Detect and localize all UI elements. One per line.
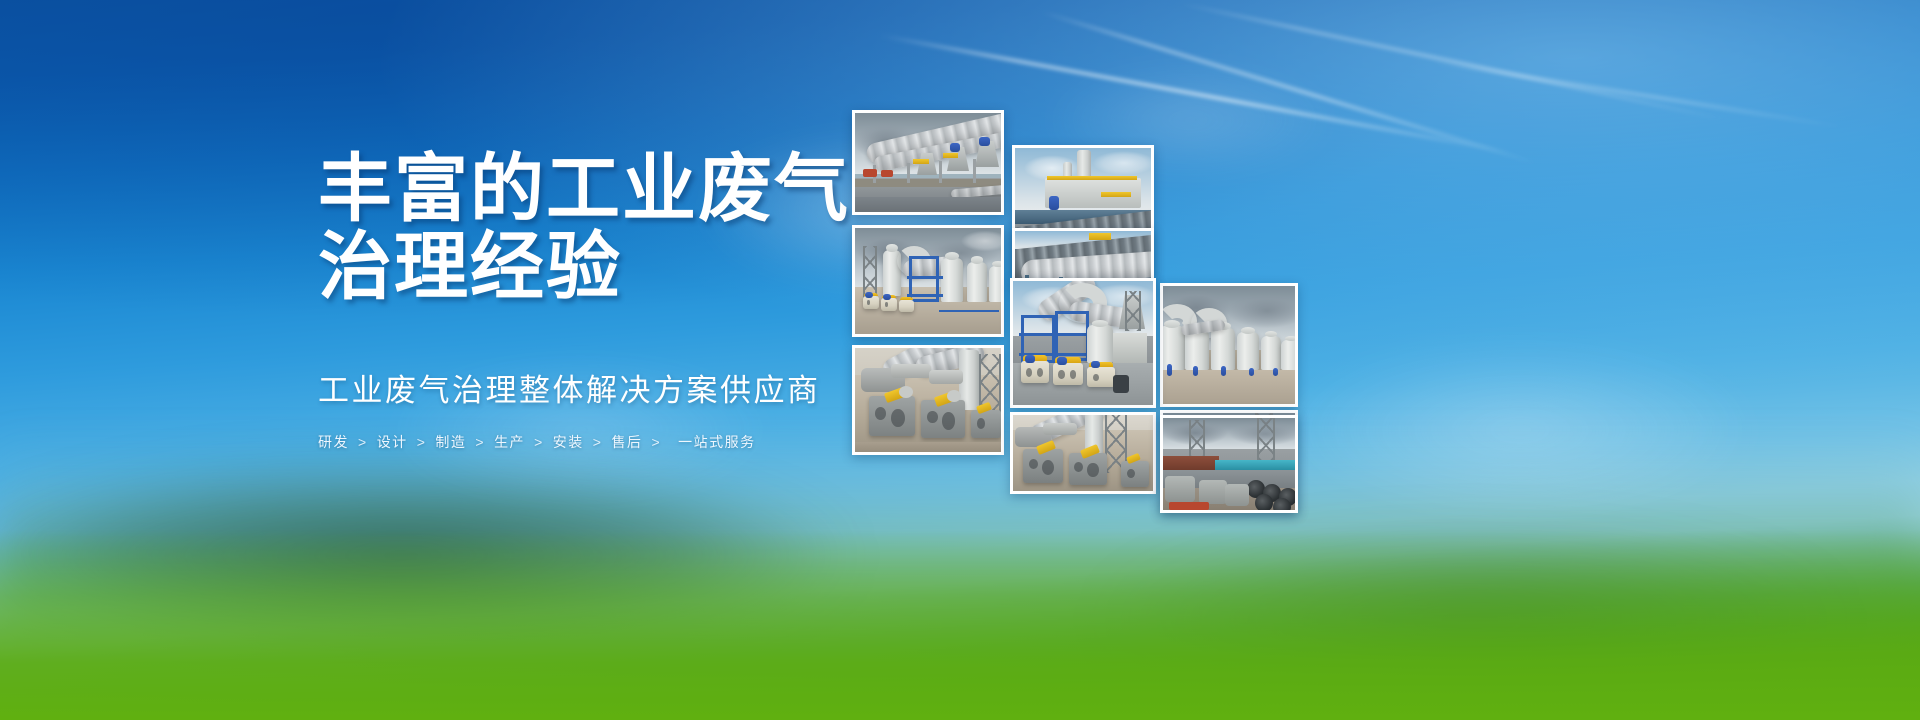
hero-banner: 丰富的工业废气 治理经验 工业废气治理整体解决方案供应商 研发 > 设计 > 制…	[0, 0, 1920, 720]
collage-photo-fan-bank-blue-frame	[1010, 278, 1156, 408]
collage-photo-fan-housings-yard	[852, 345, 1004, 455]
collage-photo-industrial-duct-pipeline	[852, 110, 1004, 215]
photo-collage	[0, 0, 1920, 720]
collage-photo-scrubber-towers	[852, 225, 1004, 337]
collage-photo-fan-volutes-stacked	[1160, 415, 1298, 513]
collage-photo-scrubber-lattice-tower	[1010, 412, 1156, 494]
collage-photo-wet-scrubber-tanks	[1160, 283, 1298, 407]
